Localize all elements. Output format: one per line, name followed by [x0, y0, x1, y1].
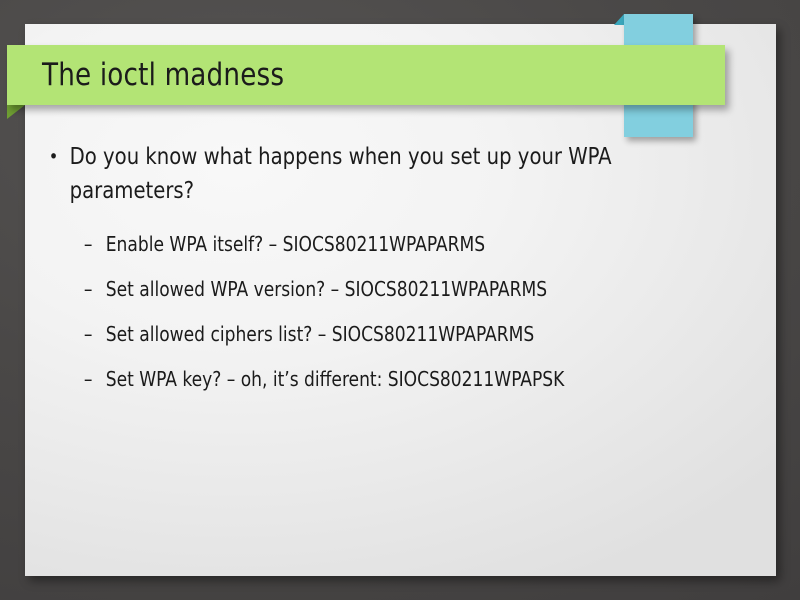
sub-bullet-item: – Set allowed ciphers list? – SIOCS80211…: [25, 318, 738, 351]
sub-bullet-item: – Enable WPA itself? – SIOCS80211WPAPARM…: [25, 228, 738, 261]
sub-bullet-text: Set WPA key? – oh, it’s different: SIOCS…: [106, 367, 565, 391]
sub-bullet-list: – Enable WPA itself? – SIOCS80211WPAPARM…: [25, 228, 776, 396]
sub-bullet-text: Enable WPA itself? – SIOCS80211WPAPARMS: [106, 232, 485, 256]
sub-bullet-text: Set allowed WPA version? – SIOCS80211WPA…: [106, 277, 547, 301]
dash-marker-icon: –: [84, 363, 93, 396]
presentation-stage: The ioctl madness • Do you know what hap…: [0, 0, 800, 600]
dash-marker-icon: –: [84, 318, 93, 351]
title-banner-fold-corner: [7, 105, 25, 119]
title-banner: The ioctl madness: [7, 45, 725, 105]
blue-band-fold-corner: [614, 14, 624, 25]
bullet-dot-icon: •: [49, 140, 59, 174]
dash-marker-icon: –: [84, 273, 93, 306]
sub-bullet-text: Set allowed ciphers list? – SIOCS80211WP…: [106, 322, 534, 346]
slide-body: • Do you know what happens when you set …: [25, 140, 776, 408]
bullet-level1-text: Do you know what happens when you set up…: [70, 144, 612, 204]
bullet-item-level1: • Do you know what happens when you set …: [25, 140, 738, 208]
slide-title: The ioctl madness: [42, 57, 284, 93]
dash-marker-icon: –: [84, 228, 93, 261]
sub-bullet-item: – Set WPA key? – oh, it’s different: SIO…: [25, 363, 738, 396]
sub-bullet-item: – Set allowed WPA version? – SIOCS80211W…: [25, 273, 738, 306]
